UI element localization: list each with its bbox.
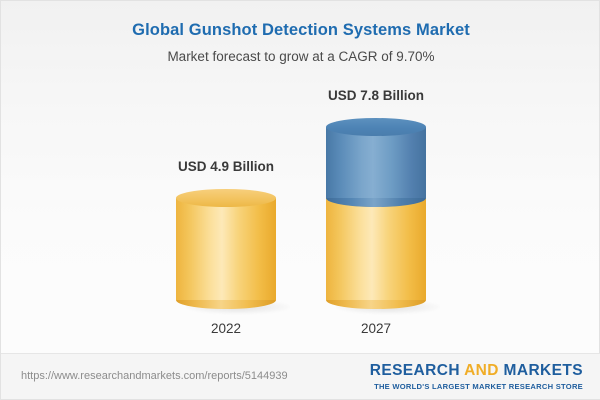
chart-plot-area: USD 4.9 Billion 2022 USD 7.8 Billion (1, 1, 600, 353)
footer: https://www.researchandmarkets.com/repor… (1, 354, 600, 399)
bar-value-label-2027: USD 7.8 Billion (286, 88, 466, 103)
bar-cylinder-2027-growth (326, 118, 426, 207)
infographic-card: Global Gunshot Detection Systems Market … (0, 0, 600, 400)
logo-word-research: RESEARCH (370, 362, 464, 379)
bar-cylinder-2027-base (326, 189, 426, 309)
logo-tagline: THE WORLD'S LARGEST MARKET RESEARCH STOR… (370, 382, 583, 391)
cylinder-body (326, 198, 426, 300)
logo-wordmark: RESEARCH AND MARKETS (370, 362, 583, 380)
bar-group-2027: USD 7.8 Billion 2027 (326, 118, 426, 309)
cylinder-top-cap (326, 118, 426, 136)
bar-cylinder-2022-base (176, 189, 276, 309)
cylinder-body (326, 127, 426, 198)
logo-word-and: AND (464, 362, 499, 379)
report-url[interactable]: https://www.researchandmarkets.com/repor… (21, 370, 288, 382)
category-label-2027: 2027 (286, 321, 466, 336)
research-and-markets-logo: RESEARCH AND MARKETS THE WORLD'S LARGEST… (370, 362, 583, 391)
bar-value-label-2022: USD 4.9 Billion (136, 159, 316, 174)
logo-word-markets: MARKETS (499, 362, 583, 379)
cylinder-top-cap (176, 189, 276, 207)
cylinder-body (176, 198, 276, 300)
bar-group-2022: USD 4.9 Billion 2022 (176, 189, 276, 309)
